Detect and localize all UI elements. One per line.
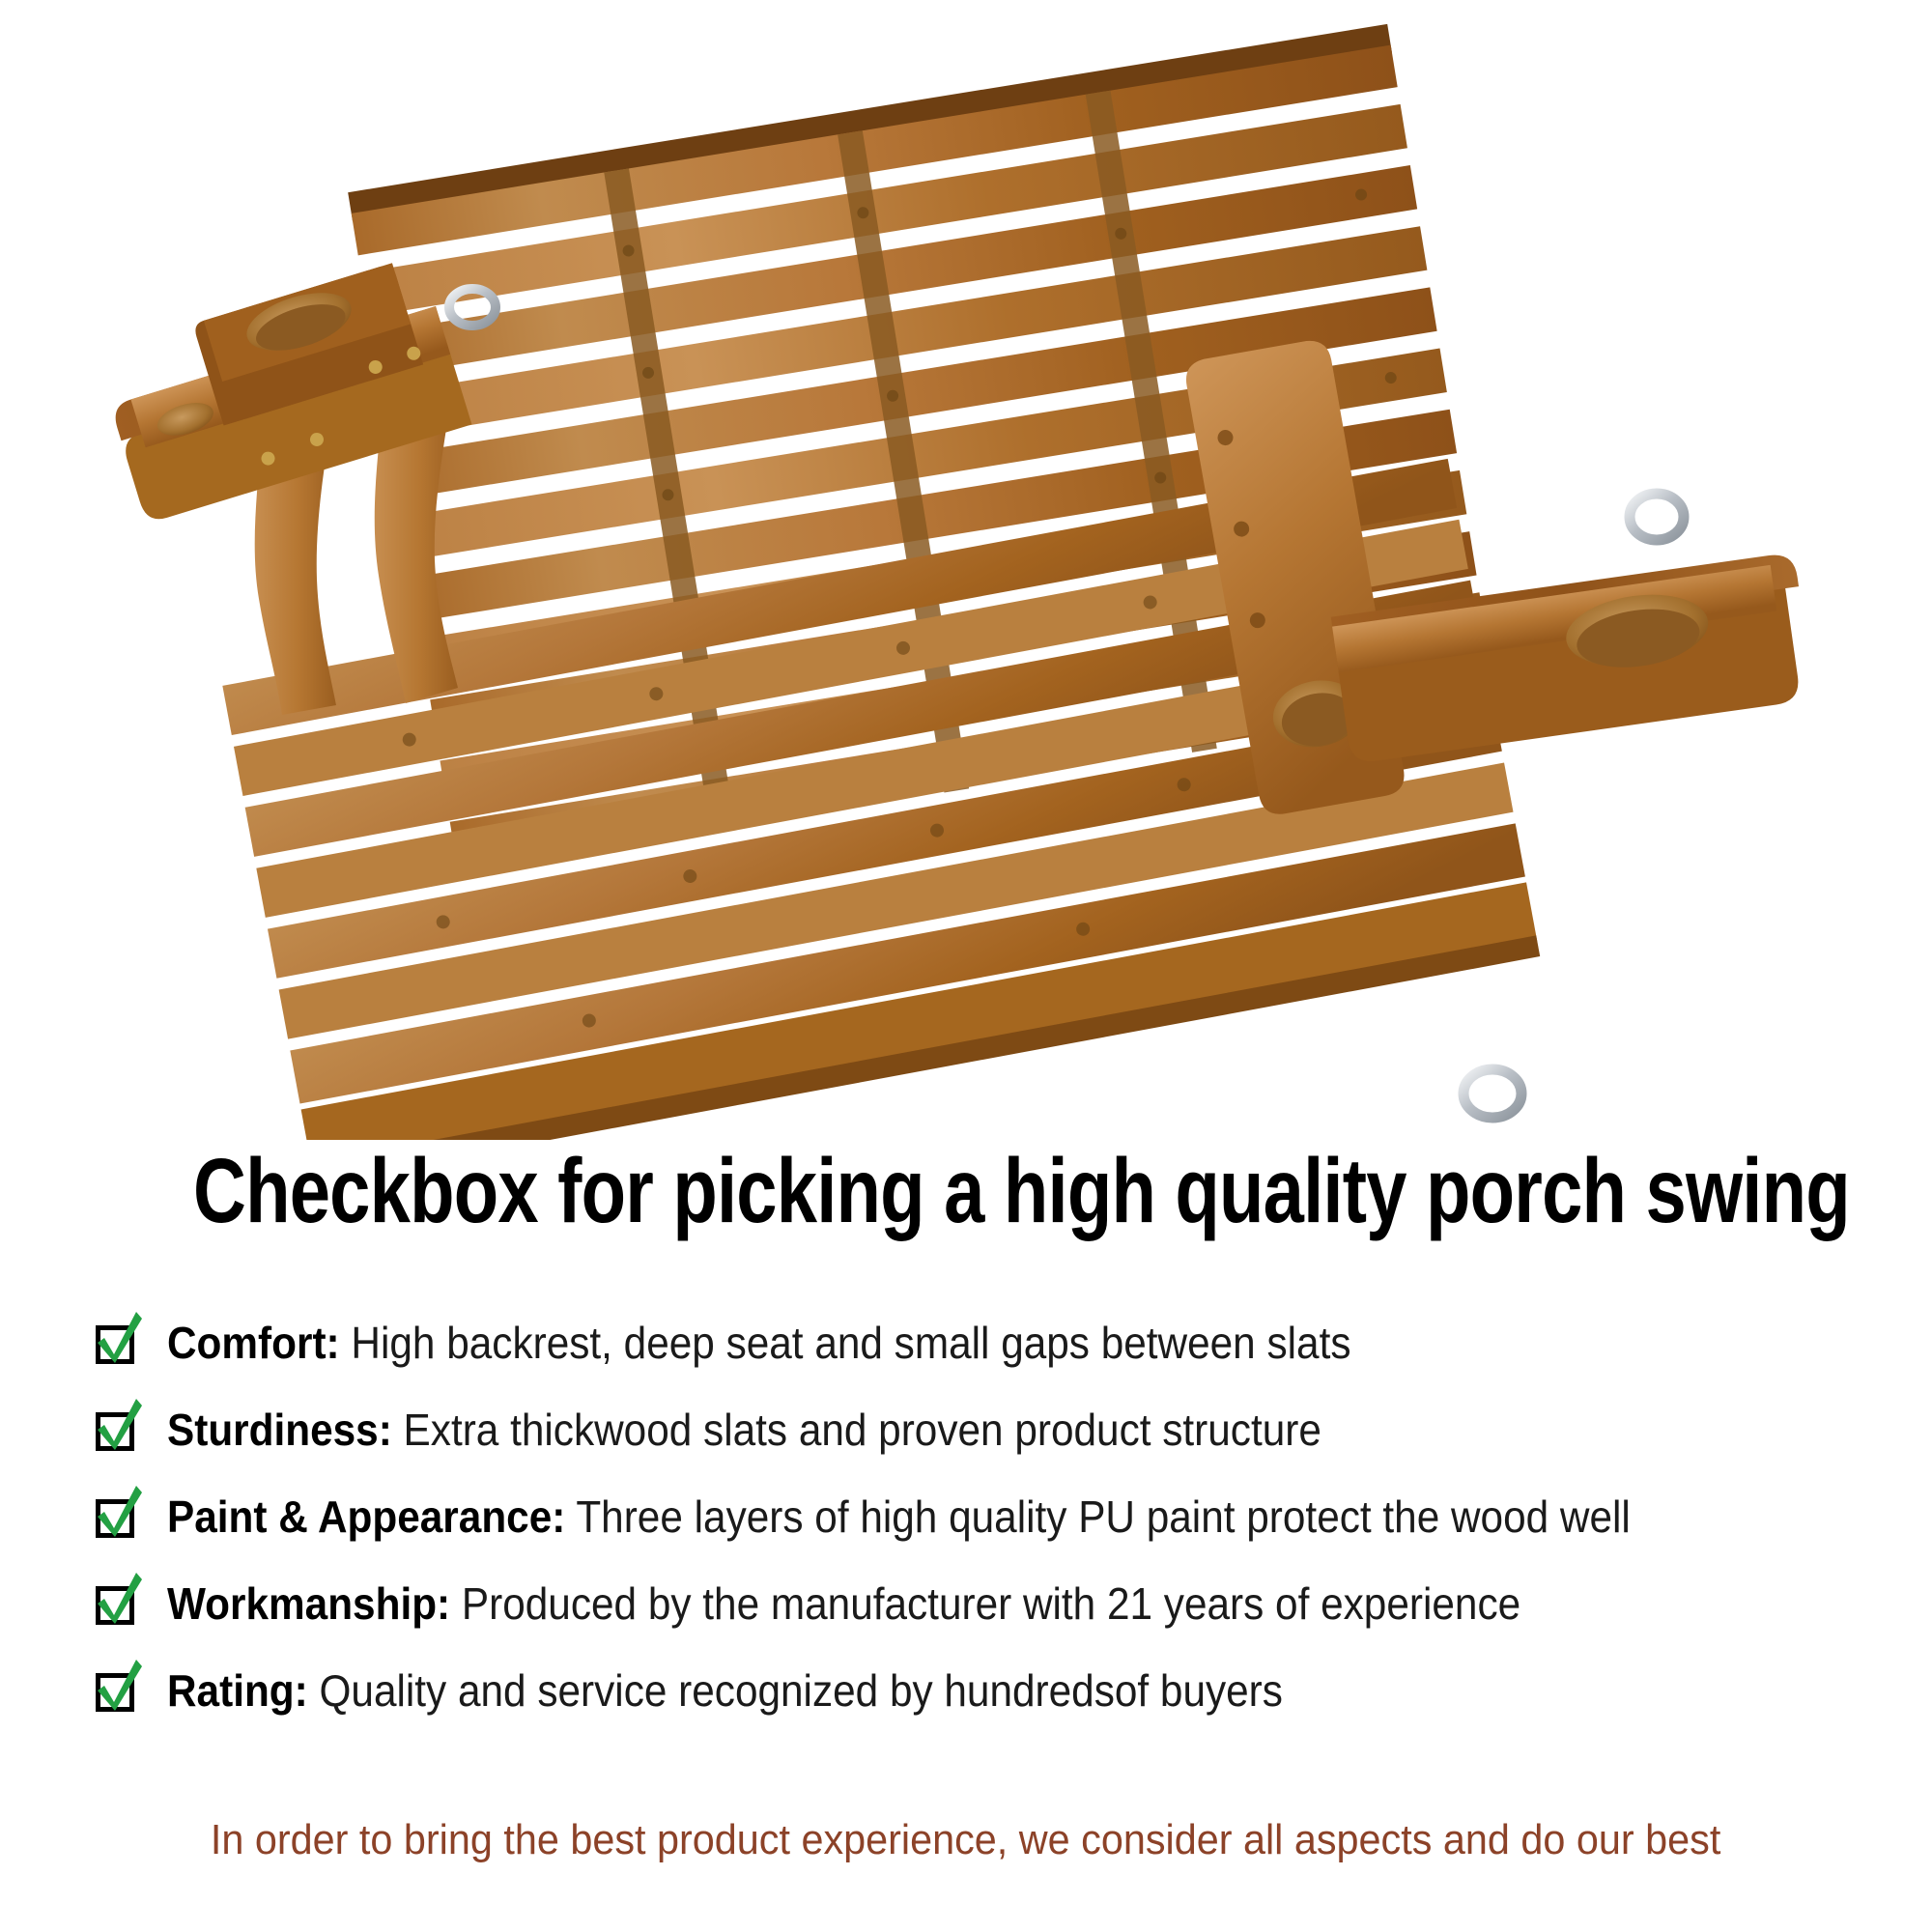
checkbox-checked-icon[interactable]: [92, 1665, 142, 1716]
list-item[interactable]: Sturdiness: Extra thickwood slats and pr…: [0, 1386, 1932, 1473]
hanging-ring-right-bottom: [1463, 1069, 1521, 1118]
list-item-text: Sturdiness: Extra thickwood slats and pr…: [167, 1404, 1321, 1456]
list-item-desc: Extra thickwood slats and proven product…: [392, 1405, 1321, 1455]
list-item-text: Comfort: High backrest, deep seat and sm…: [167, 1317, 1350, 1369]
list-item[interactable]: Comfort: High backrest, deep seat and sm…: [0, 1299, 1932, 1386]
list-item-desc: Quality and service recognized by hundre…: [308, 1665, 1283, 1716]
checkbox-checked-icon[interactable]: [92, 1492, 142, 1542]
list-item-label: Paint & Appearance:: [167, 1492, 565, 1542]
list-item-text: Rating: Quality and service recognized b…: [167, 1664, 1283, 1717]
list-item-desc: High backrest, deep seat and small gaps …: [340, 1318, 1351, 1368]
list-item[interactable]: Workmanship: Produced by the manufacture…: [0, 1560, 1932, 1647]
checklist: Comfort: High backrest, deep seat and sm…: [0, 1299, 1932, 1734]
list-item-text: Workmanship: Produced by the manufacture…: [167, 1577, 1520, 1630]
footer-tagline: In order to bring the best product exper…: [0, 1816, 1932, 1864]
checkbox-checked-icon[interactable]: [92, 1318, 142, 1368]
list-item-label: Rating:: [167, 1665, 308, 1716]
list-item-desc: Produced by the manufacturer with 21 yea…: [450, 1578, 1520, 1629]
infographic-page: Checkbox for picking a high quality porc…: [0, 0, 1932, 1932]
checkbox-checked-icon[interactable]: [92, 1578, 142, 1629]
list-item[interactable]: Paint & Appearance: Three layers of high…: [0, 1473, 1932, 1560]
footer-tagline-text: In order to bring the best product exper…: [211, 1816, 1720, 1864]
list-item-label: Sturdiness:: [167, 1405, 392, 1455]
product-photo: [0, 0, 1932, 1140]
hanging-ring-right-top: [1630, 494, 1684, 540]
list-item-text: Paint & Appearance: Three layers of high…: [167, 1491, 1631, 1543]
list-item[interactable]: Rating: Quality and service recognized b…: [0, 1647, 1932, 1734]
list-item-desc: Three layers of high quality PU paint pr…: [565, 1492, 1630, 1542]
list-item-label: Comfort:: [167, 1318, 340, 1368]
page-title: Checkbox for picking a high quality porc…: [193, 1145, 1739, 1238]
list-item-label: Workmanship:: [167, 1578, 450, 1629]
checkbox-checked-icon[interactable]: [92, 1405, 142, 1455]
